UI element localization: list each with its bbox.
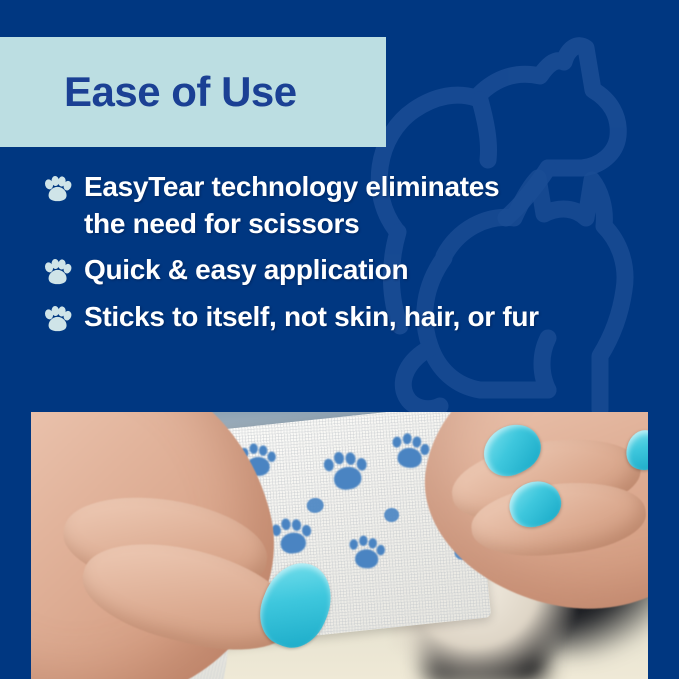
list-item-label: Sticks to itself, not skin, hair, or fur [84,298,539,335]
paw-print-icon [42,175,72,205]
list-item-label: Quick & easy application [84,251,408,288]
page-title: Ease of Use [0,71,297,113]
title-banner: Ease of Use [0,37,386,147]
feature-bullet-list: EasyTear technology eliminates the need … [0,168,679,344]
paw-print-icon [42,258,72,288]
product-feature-card: Ease of Use EasyTear technology eliminat… [0,0,679,679]
list-item: EasyTear technology eliminates the need … [0,168,679,242]
photo-content [31,412,648,679]
product-photo [31,412,648,679]
paw-print-icon [42,305,72,335]
list-item: Quick & easy application [0,251,679,288]
list-item-label: EasyTear technology eliminates the need … [84,168,499,242]
list-item: Sticks to itself, not skin, hair, or fur [0,298,679,335]
